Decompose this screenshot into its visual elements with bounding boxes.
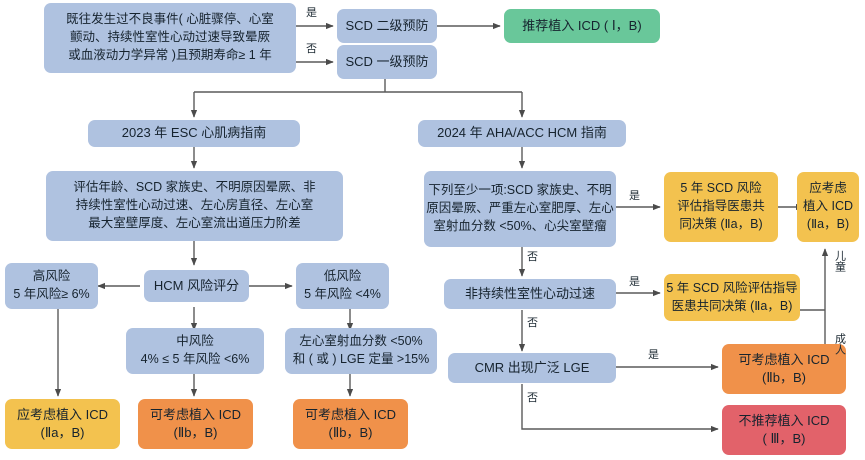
node-line: 既往发生过不良事件( 心脏骤停、心室 [66, 11, 274, 29]
node-line: 中风险 [176, 333, 214, 351]
node-line: 应考虑植入 ICD [17, 406, 108, 424]
node-may-consider-icd-medium[interactable]: 可考虑植入 ICD (Ⅱb，B) [138, 399, 253, 449]
node-line: 4% ≤ 5 年风险 <6% [141, 351, 250, 369]
node-line: 原因晕厥、严重左心室肥厚、左心 [426, 200, 614, 218]
edge-label-no-nsvt: 否 [527, 318, 538, 330]
node-line: 评估年龄、SCD 家族史、不明原因晕厥、非 [73, 179, 315, 197]
node-esc-2023-guideline[interactable]: 2023 年 ESC 心肌病指南 [88, 120, 300, 147]
node-line: 应考虑 [809, 180, 847, 198]
node-nsvt[interactable]: 非持续性室性心动过速 [444, 279, 616, 309]
node-scd-primary-prevention[interactable]: SCD 一级预防 [337, 45, 437, 79]
node-line: 5 年风险 <4% [304, 286, 381, 304]
node-line: 左心室射血分数 <50% [299, 333, 422, 351]
node-aha-acc-2024-guideline[interactable]: 2024 年 AHA/ACC HCM 指南 [418, 120, 626, 147]
node-recommend-icd-class1[interactable]: 推荐植入 ICD ( Ⅰ，B) [504, 9, 660, 43]
node-line: SCD 一级预防 [345, 53, 428, 71]
node-line: 室射血分数 <50%、心尖室壁瘤 [433, 218, 606, 236]
edge-label-yes-cmr: 是 [648, 350, 659, 362]
node-5y-risk-shared-decision-b[interactable]: 5 年 SCD 风险评估指导 医患共同决策 (Ⅱa，B) [664, 274, 800, 321]
node-should-consider-icd-top-right[interactable]: 应考虑 植入 ICD (Ⅱa，B) [797, 172, 859, 242]
flowchart-canvas: 既往发生过不良事件( 心脏骤停、心室 颤动、持续性室性心动过速导致晕厥 或血液动… [0, 0, 865, 460]
node-line: 持续性室性心动过速、左心房直径、左心室 [76, 197, 314, 215]
node-line: 最大室壁厚度、左心室流出道压力阶差 [88, 215, 301, 233]
node-hcm-risk-score[interactable]: HCM 风险评分 [144, 270, 249, 302]
node-esc-assessment-factors[interactable]: 评估年龄、SCD 家族史、不明原因晕厥、非 持续性室性心动过速、左心房直径、左心… [46, 171, 343, 241]
node-high-risk[interactable]: 高风险 5 年风险≥ 6% [5, 263, 98, 309]
node-line: (Ⅱb，B) [329, 424, 373, 442]
node-line: 医患共同决策 (Ⅱa，B) [672, 298, 793, 316]
node-cmr-extensive-lge[interactable]: CMR 出现广泛 LGE [448, 353, 616, 383]
node-not-recommended-icd[interactable]: 不推荐植入 ICD ( Ⅲ，B) [722, 405, 846, 455]
node-line: 2024 年 AHA/ACC HCM 指南 [437, 124, 607, 142]
node-line: 高风险 [33, 268, 71, 286]
node-lvef-lge-criteria[interactable]: 左心室射血分数 <50% 和 ( 或 ) LGE 定量 >15% [285, 328, 437, 374]
node-line: 可考虑植入 ICD [150, 406, 241, 424]
node-medium-risk[interactable]: 中风险 4% ≤ 5 年风险 <6% [126, 328, 264, 374]
edge-label-no-cmr: 否 [527, 393, 538, 405]
node-line: 2023 年 ESC 心肌病指南 [122, 124, 267, 142]
node-line: ( Ⅲ，B) [763, 430, 806, 448]
node-line: (Ⅱa，B) [41, 424, 85, 442]
edge-label-no-top: 否 [306, 44, 317, 56]
edge-label-children: 儿童 [833, 250, 845, 272]
node-line: 评估指导医患共 [677, 198, 765, 216]
edge-label-no-aha: 否 [527, 252, 538, 264]
node-prior-adverse-event[interactable]: 既往发生过不良事件( 心脏骤停、心室 颤动、持续性室性心动过速导致晕厥 或血液动… [44, 3, 296, 73]
edge-label-yes-aha: 是 [629, 191, 640, 203]
node-may-consider-icd-right[interactable]: 可考虑植入 ICD (Ⅱb，B) [722, 344, 846, 394]
node-line: (Ⅱb，B) [762, 369, 806, 387]
node-line: 推荐植入 ICD ( Ⅰ，B) [522, 17, 641, 35]
node-line: 5 年 SCD 风险 [680, 180, 761, 198]
node-line: SCD 二级预防 [345, 17, 428, 35]
node-line: 5 年风险≥ 6% [13, 286, 89, 304]
node-should-consider-icd-bottom-left[interactable]: 应考虑植入 ICD (Ⅱa，B) [5, 399, 120, 449]
node-line: 植入 ICD [803, 198, 853, 216]
node-line: 下列至少一项:SCD 家族史、不明 [428, 182, 611, 200]
node-line: 低风险 [324, 268, 362, 286]
node-5y-risk-shared-decision-a[interactable]: 5 年 SCD 风险 评估指导医患共 同决策 (Ⅱa，B) [664, 172, 778, 242]
node-line: HCM 风险评分 [154, 277, 239, 295]
edge-label-yes-top: 是 [306, 8, 317, 20]
node-line: (Ⅱb，B) [174, 424, 218, 442]
node-line: 颤动、持续性室性心动过速导致晕厥 [70, 29, 270, 47]
node-line: 不推荐植入 ICD [738, 412, 829, 430]
node-low-risk[interactable]: 低风险 5 年风险 <4% [296, 263, 389, 309]
node-line: CMR 出现广泛 LGE [475, 359, 590, 377]
node-line: 和 ( 或 ) LGE 定量 >15% [293, 351, 430, 369]
node-aha-criteria-list[interactable]: 下列至少一项:SCD 家族史、不明 原因晕厥、严重左心室肥厚、左心 室射血分数 … [424, 171, 616, 247]
node-line: 可考虑植入 ICD [305, 406, 396, 424]
node-line: 可考虑植入 ICD [738, 351, 829, 369]
node-line: 非持续性室性心动过速 [465, 285, 595, 303]
edge-label-adults: 成人 [833, 333, 845, 355]
node-line: 5 年 SCD 风险评估指导 [666, 280, 797, 298]
node-line: (Ⅱa，B) [807, 216, 849, 234]
node-line: 同决策 (Ⅱa，B) [679, 216, 762, 234]
node-may-consider-icd-low[interactable]: 可考虑植入 ICD (Ⅱb，B) [293, 399, 408, 449]
node-scd-secondary-prevention[interactable]: SCD 二级预防 [337, 9, 437, 43]
node-line: 或血液动力学异常 )且预期寿命≥ 1 年 [68, 47, 271, 65]
edge-label-yes-nsvt: 是 [629, 277, 640, 289]
